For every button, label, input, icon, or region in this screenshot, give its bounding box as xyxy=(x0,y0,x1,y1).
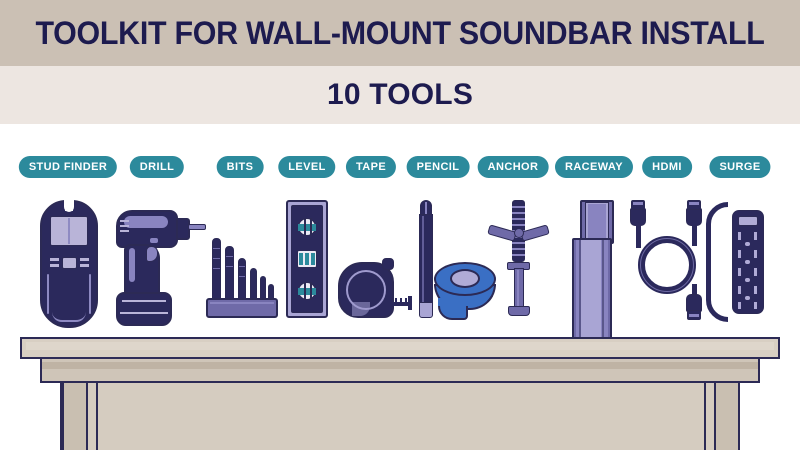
raceway-icon xyxy=(572,200,620,340)
tool-badge-tape-measure[interactable]: TAPE xyxy=(346,156,396,178)
table-leg-left xyxy=(62,383,86,450)
tool-badge-pencil[interactable]: PENCIL xyxy=(407,156,470,178)
table-leg-right xyxy=(714,383,738,450)
tool-badge-raceway[interactable]: RACEWAY xyxy=(555,156,633,178)
table-leg-edge-2 xyxy=(86,383,88,450)
tool-count-subtitle: 10 TOOLS xyxy=(0,66,800,124)
hdmi-cable-icon xyxy=(628,200,706,320)
toggle-anchor-icon xyxy=(488,198,550,320)
table-leg-edge-6 xyxy=(738,383,740,450)
table-leg-edge-5 xyxy=(714,383,716,450)
infographic-canvas: TOOLKIT FOR WALL-MOUNT SOUNDBAR INSTALL … xyxy=(0,0,800,450)
table-leg-edge-4 xyxy=(704,383,706,450)
drill-bits-icon xyxy=(206,232,278,320)
level-icon xyxy=(286,200,328,318)
tool-badge-toggle-anchor[interactable]: ANCHOR xyxy=(478,156,549,178)
table-top xyxy=(20,337,780,359)
tool-badge-drill[interactable]: DRILL xyxy=(130,156,184,178)
tape-measure-icon xyxy=(338,258,410,320)
table-legs-panel xyxy=(60,383,740,450)
stud-finder-icon xyxy=(38,198,100,330)
drill-icon xyxy=(110,200,210,330)
tool-badge-level[interactable]: LEVEL xyxy=(278,156,335,178)
tool-badge-stud-finder[interactable]: STUD FINDER xyxy=(19,156,117,178)
tool-badge-hdmi-cable[interactable]: HDMI xyxy=(642,156,692,178)
table-leg-edge-1 xyxy=(62,383,64,450)
surge-protector-icon xyxy=(706,198,770,326)
tool-badge-drill-bits[interactable]: BITS xyxy=(217,156,264,178)
tool-badge-surge-protector[interactable]: SURGE xyxy=(709,156,770,178)
table-leg-edge-3 xyxy=(96,383,98,450)
page-title: TOOLKIT FOR WALL-MOUNT SOUNDBAR INSTALL xyxy=(20,0,780,66)
table-apron xyxy=(40,359,760,383)
